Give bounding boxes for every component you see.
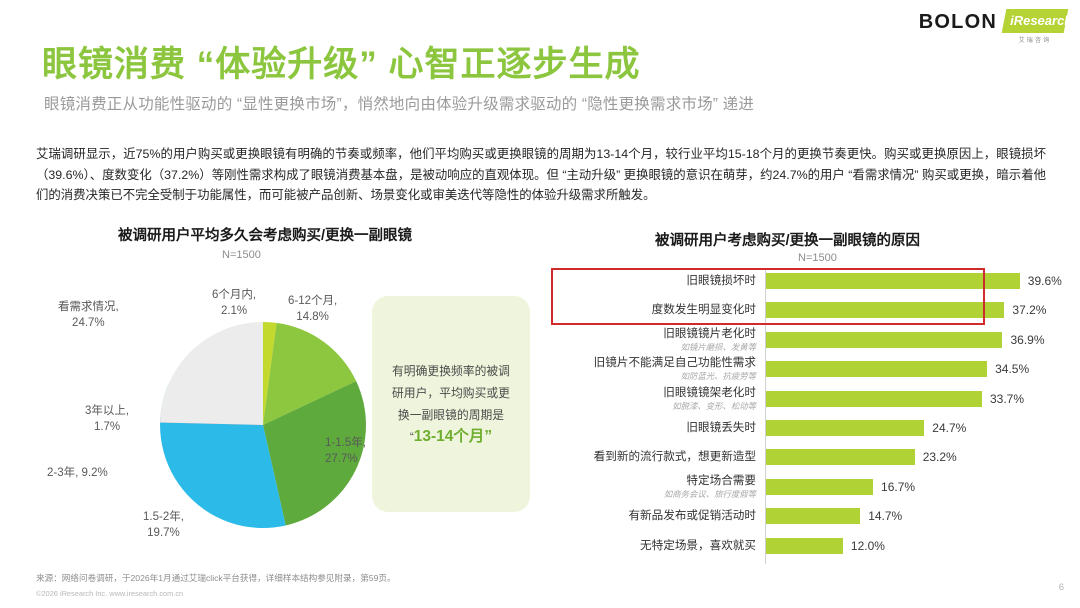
bar-value-label: 24.7%: [932, 420, 966, 436]
bar-row-label: 有新品发布或促销活动时: [552, 509, 761, 523]
page-number: 6: [1059, 582, 1064, 593]
bar-value-label: 14.7%: [868, 508, 902, 524]
bar-row-label-main: 旧眼镜损坏时: [686, 274, 756, 287]
bar-track: 23.2%: [766, 444, 1052, 470]
pie-label-1.5-2y-name: 1.5-2年,: [143, 511, 184, 523]
bar-fill: [766, 420, 924, 436]
callout-suffix: ”: [484, 428, 492, 445]
callout-highlight: 13-14个月: [414, 428, 485, 445]
pie-label-1.5-2y-value: 19.7%: [147, 527, 180, 539]
pie-label-1.5-2y: 1.5-2年, 19.7%: [143, 510, 184, 541]
pie-label-3y-plus-value: 1.7%: [94, 421, 120, 433]
bar-row-label-main: 旧眼镜镜片老化时: [663, 327, 756, 340]
pie-label-as-needed-value: 24.7%: [72, 317, 105, 329]
bar-track: 16.7%: [766, 474, 1052, 500]
bar-row-label: 旧眼镜镜片老化时如镜片磨损、发黄等: [552, 327, 761, 353]
bar-track: 39.6%: [766, 268, 1052, 294]
bar-value-label: 39.6%: [1028, 273, 1062, 289]
bar-track: 33.7%: [766, 386, 1052, 412]
bar-row-label: 看到新的流行款式，想更新造型: [552, 450, 761, 464]
pie-label-2-3y: 2-3年, 9.2%: [47, 466, 108, 482]
pie-label-3y-plus: 3年以上, 1.7%: [85, 404, 129, 435]
pie-label-6-12m: 6-12个月, 14.8%: [288, 294, 337, 325]
bar-row: 旧眼镜损坏时39.6%: [552, 268, 1052, 294]
pie-label-6m: 6个月内, 2.1%: [212, 288, 256, 319]
callout-box: 有明确更换频率的被调研用户，平均购买或更换一副眼镜的周期是 “13-14个月”: [372, 296, 530, 512]
bar-track: 24.7%: [766, 415, 1052, 441]
bar-value-label: 12.0%: [851, 538, 885, 554]
pie-label-1-1.5y-value: 27.7%: [325, 453, 358, 465]
bar-track: 14.7%: [766, 503, 1052, 529]
iresearch-logo-text: iResearch: [1010, 12, 1061, 29]
bar-row: 看到新的流行款式，想更新造型23.2%: [552, 444, 1052, 470]
bar-row-label-main: 度数发生明显变化时: [652, 303, 756, 316]
bar-fill: [766, 449, 915, 465]
bar-fill: [766, 479, 873, 495]
bar-row-label: 特定场合需要如商务会议、旅行度假等: [552, 474, 761, 500]
bar-track: 34.5%: [766, 356, 1052, 382]
bar-row: 旧眼镜镜架老化时如脱漆、变形、松动等33.7%: [552, 386, 1052, 412]
bolon-logo-text: BOLON: [919, 9, 997, 35]
pie-label-6-12m-value: 14.8%: [296, 311, 329, 323]
bar-value-label: 16.7%: [881, 479, 915, 495]
bar-row-label-main: 旧镜片不能满足自己功能性需求: [594, 356, 756, 369]
source-note: 来源：网络问卷调研，于2026年1月通过艾瑞click平台获得，详细样本结构参见…: [36, 572, 396, 585]
pie-label-6m-name: 6个月内,: [212, 289, 256, 301]
bar-row-label-main: 无特定场景，喜欢就买: [640, 539, 756, 552]
pie-label-1-1.5y: 1-1.5年, 27.7%: [325, 436, 366, 467]
page-title: 眼镜消费 “体验升级” 心智正逐步生成: [42, 36, 640, 87]
bar-row-label-main: 旧眼镜丢失时: [686, 421, 756, 434]
bar-value-label: 23.2%: [923, 449, 957, 465]
bar-row-sublabel: 如脱漆、变形、松动等: [552, 401, 756, 412]
bar-row: 特定场合需要如商务会议、旅行度假等16.7%: [552, 474, 1052, 500]
body-paragraph: 艾瑞调研显示，近75%的用户购买或更换眼镜有明确的节奏或频率，他们平均购买或更换…: [36, 144, 1046, 206]
bar-row-label: 无特定场景，喜欢就买: [552, 539, 761, 553]
pie-slice-as-needed: [160, 322, 263, 425]
bar-fill: [766, 361, 987, 377]
bar-row-sublabel: 如商务会议、旅行度假等: [552, 489, 756, 500]
bar-chart-title: 被调研用户考虑购买/更换一副眼镜的原因: [655, 229, 920, 250]
callout-text: 有明确更换频率的被调研用户，平均购买或更换一副眼镜的周期是 “13-14个月”: [388, 360, 514, 448]
bar-track: 36.9%: [766, 327, 1052, 353]
pie-chart-title: 被调研用户平均多久会考虑购买/更换一副眼镜: [118, 224, 412, 245]
slide-page: BOLON iResearch 艾瑞咨询 眼镜消费 “体验升级” 心智正逐步生成…: [0, 0, 1080, 608]
bar-row-label: 旧镜片不能满足自己功能性需求如防蓝光、抗疲劳等: [552, 356, 761, 382]
pie-chart-svg: [158, 320, 368, 530]
bar-row-label-main: 看到新的流行款式，想更新造型: [594, 450, 756, 463]
bar-row: 旧眼镜镜片老化时如镜片磨损、发黄等36.9%: [552, 327, 1052, 353]
iresearch-logo-cn: 艾瑞咨询: [1004, 35, 1066, 44]
bar-fill: [766, 508, 860, 524]
pie-label-1-1.5y-name: 1-1.5年,: [325, 437, 366, 449]
bar-row-sublabel: 如防蓝光、抗疲劳等: [552, 371, 756, 382]
pie-chart-sample-size: N=1500: [222, 249, 261, 261]
bar-row-label: 旧眼镜丢失时: [552, 421, 761, 435]
bar-chart: 旧眼镜损坏时39.6%度数发生明显变化时37.2%旧眼镜镜片老化时如镜片磨损、发…: [552, 266, 1052, 566]
bar-row-sublabel: 如镜片磨损、发黄等: [552, 342, 756, 353]
copyright-note: ©2026 iResearch Inc. www.iresearch.com.c…: [36, 588, 183, 599]
bar-fill: [766, 332, 1002, 348]
bar-row: 无特定场景，喜欢就买12.0%: [552, 533, 1052, 559]
pie-label-6-12m-name: 6-12个月,: [288, 295, 337, 307]
bar-row: 有新品发布或促销活动时14.7%: [552, 503, 1052, 529]
bar-row-label-main: 旧眼镜镜架老化时: [663, 386, 756, 399]
bar-row-label: 旧眼镜镜架老化时如脱漆、变形、松动等: [552, 386, 761, 412]
bar-fill: [766, 302, 1004, 318]
bar-value-label: 37.2%: [1012, 302, 1046, 318]
bar-track: 12.0%: [766, 533, 1052, 559]
pie-chart: [158, 320, 368, 530]
iresearch-logo: iResearch 艾瑞咨询: [1004, 9, 1066, 44]
bar-value-label: 36.9%: [1010, 332, 1044, 348]
bar-value-label: 33.7%: [990, 391, 1024, 407]
bar-row-label: 度数发生明显变化时: [552, 303, 761, 317]
bar-track: 37.2%: [766, 297, 1052, 323]
bar-row: 度数发生明显变化时37.2%: [552, 297, 1052, 323]
bar-fill: [766, 538, 843, 554]
pie-label-3y-plus-name: 3年以上,: [85, 405, 129, 417]
bar-row: 旧眼镜丢失时24.7%: [552, 415, 1052, 441]
page-subtitle: 眼镜消费正从功能性驱动的 “显性更换市场”，悄然地向由体验升级需求驱动的 “隐性…: [44, 92, 754, 114]
pie-label-6m-value: 2.1%: [221, 305, 247, 317]
bar-chart-sample-size: N=1500: [798, 252, 837, 264]
logo-group: BOLON iResearch 艾瑞咨询: [919, 9, 1066, 44]
bar-row-label-main: 特定场合需要: [686, 474, 756, 487]
pie-label-as-needed: 看需求情况, 24.7%: [58, 300, 119, 331]
bar-fill: [766, 273, 1020, 289]
pie-label-as-needed-name: 看需求情况,: [58, 301, 119, 313]
iresearch-logo-badge: iResearch: [1002, 9, 1069, 33]
bar-row: 旧镜片不能满足自己功能性需求如防蓝光、抗疲劳等34.5%: [552, 356, 1052, 382]
bar-row-label-main: 有新品发布或促销活动时: [628, 509, 756, 522]
bar-fill: [766, 391, 982, 407]
bar-value-label: 34.5%: [995, 361, 1029, 377]
bar-row-label: 旧眼镜损坏时: [552, 274, 761, 288]
